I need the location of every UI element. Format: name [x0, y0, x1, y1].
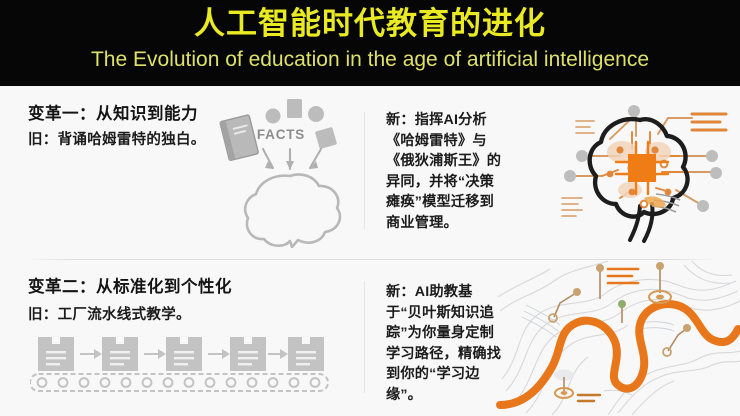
- slide-root: 人工智能时代教育的进化 The Evolution of education i…: [0, 0, 740, 416]
- topographic-path-icon: [496, 259, 740, 416]
- section-one-old-label: 旧：背诵哈姆雷特的独白。: [28, 128, 206, 149]
- ai-circuit-brain-icon: [540, 94, 740, 249]
- section-two-old-label: 旧：工厂流水线式教学。: [28, 303, 191, 324]
- conveyor-belt-icon: [30, 333, 330, 395]
- page-subtitle: The Evolution of education in the age of…: [91, 46, 649, 74]
- section-one-new-label: 新：指挥AI分析《哈姆雷特》与《俄狄浦斯王》的异同，并将“决策瘫痪”模型迁移到商…: [386, 110, 504, 233]
- section-two-new-label: 新：AI助教基于“贝叶斯知识追踪”为你量身定制学习路径，精确找到你的“学习边缘”…: [386, 282, 504, 405]
- slide-body: 变革一：从知识到能力 旧：背诵哈姆雷特的独白。: [0, 86, 740, 416]
- svg-text:FACTS: FACTS: [257, 127, 305, 142]
- section-two: 变革二：从标准化到个性化 旧：工厂流水线式教学。: [0, 259, 740, 416]
- page-title: 人工智能时代教育的进化: [194, 4, 546, 44]
- facts-to-brain-icon: FACTS: [218, 96, 368, 248]
- slide-header: 人工智能时代教育的进化 The Evolution of education i…: [0, 0, 740, 86]
- section-one-title: 变革一：从知识到能力: [28, 100, 198, 124]
- section-one: 变革一：从知识到能力 旧：背诵哈姆雷特的独白。: [0, 86, 740, 259]
- section-two-title: 变革二：从标准化到个性化: [28, 273, 232, 297]
